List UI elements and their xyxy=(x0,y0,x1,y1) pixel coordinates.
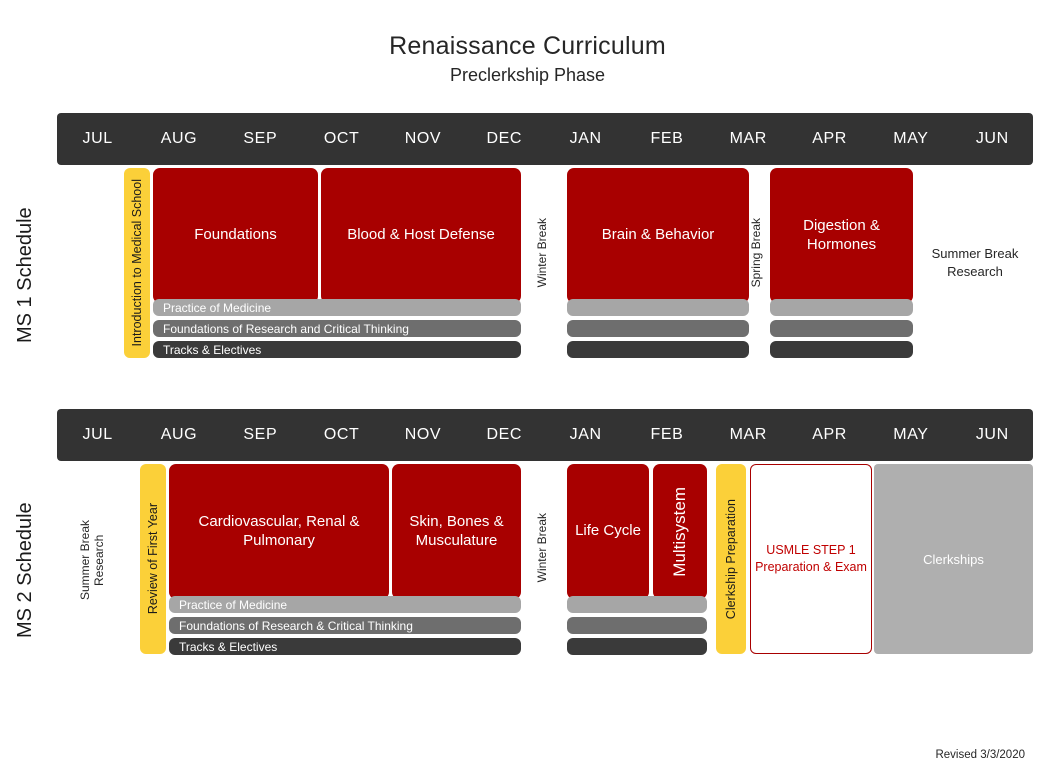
ms1-course-foundations[interactable]: Foundations xyxy=(153,168,318,303)
month-cell-mar-2: MAR xyxy=(708,426,789,444)
month-cell-feb-2: FEB xyxy=(626,426,707,444)
ms2-clerkships-label: Clerkships xyxy=(923,552,984,567)
ms1-course-digestion-hormones-label: Digestion & Hormones xyxy=(776,217,907,255)
month-cell-oct-2: OCT xyxy=(301,426,382,444)
usmle-line2: Preparation & Exam xyxy=(755,560,867,574)
ms1-strip-practice-of-medicine-3[interactable] xyxy=(770,299,913,316)
ms2-review-label: Review of First Year xyxy=(146,503,160,614)
month-cell-jun-2: JUN xyxy=(952,426,1033,444)
ms1-strip-tracks-electives-2[interactable] xyxy=(567,341,749,358)
ms2-month-bar: JUL AUG SEP OCT NOV DEC JAN FEB MAR APR … xyxy=(57,409,1033,461)
ms2-strip-practice-of-medicine-2[interactable] xyxy=(567,596,707,613)
ms1-course-blood-host-defense[interactable]: Blood & Host Defense xyxy=(321,168,521,303)
revision-footer: Revised 3/3/2020 xyxy=(935,749,1025,761)
month-cell-aug-2: AUG xyxy=(138,426,219,444)
ms2-strip-practice-of-medicine[interactable]: Practice of Medicine xyxy=(169,596,521,613)
ms2-course-cardiovascular-renal-pulmonary[interactable]: Cardiovascular, Renal & Pulmonary xyxy=(169,464,389,599)
month-cell-jan-2: JAN xyxy=(545,426,626,444)
ms2-winter-break-label: Winter Break xyxy=(531,500,553,595)
ms1-strip-foundations-research-3[interactable] xyxy=(770,320,913,337)
month-cell-feb: FEB xyxy=(626,130,707,148)
ms1-intro-to-medical-school-block[interactable]: Introduction to Medical School xyxy=(124,168,150,358)
month-cell-jul: JUL xyxy=(57,130,138,148)
title-subtitle: Preclerkship Phase xyxy=(0,65,1055,86)
month-cell-nov-2: NOV xyxy=(382,426,463,444)
month-cell-jun: JUN xyxy=(952,130,1033,148)
month-cell-apr-2: APR xyxy=(789,426,870,444)
ms2-clerkship-prep-label: Clerkship Preparation xyxy=(724,499,738,619)
month-cell-nov: NOV xyxy=(382,130,463,148)
ms2-strip-foundations-research[interactable]: Foundations of Research & Critical Think… xyxy=(169,617,521,634)
ms1-spring-break-label: Spring Break xyxy=(745,205,767,300)
ms2-clerkships-block[interactable]: Clerkships xyxy=(874,464,1033,654)
ms2-course-multisystem[interactable]: Multisystem xyxy=(653,464,707,599)
month-cell-sep-2: SEP xyxy=(220,426,301,444)
ms2-usmle-step1-block[interactable]: USMLE STEP 1Preparation & Exam xyxy=(750,464,872,654)
ms1-month-bar: JUL AUG SEP OCT NOV DEC JAN FEB MAR APR … xyxy=(57,113,1033,165)
ms1-summer-break-research-label: Summer BreakResearch xyxy=(915,240,1035,286)
ms2-course-multisystem-label: Multisystem xyxy=(669,487,690,577)
ms2-course-life-cycle-label: Life Cycle xyxy=(575,522,641,541)
ms1-strip-tracks-electives-3[interactable] xyxy=(770,341,913,358)
ms1-row-label: MS 1 Schedule xyxy=(14,185,48,365)
ms1-strip-practice-of-medicine-2[interactable] xyxy=(567,299,749,316)
ms1-intro-label: Introduction to Medical School xyxy=(130,179,144,346)
ms1-course-blood-host-defense-label: Blood & Host Defense xyxy=(347,226,495,245)
month-cell-jan: JAN xyxy=(545,130,626,148)
ms1-course-brain-behavior[interactable]: Brain & Behavior xyxy=(567,168,749,303)
ms1-strip-foundations-research-2[interactable] xyxy=(567,320,749,337)
ms2-strip-tracks-electives[interactable]: Tracks & Electives xyxy=(169,638,521,655)
ms2-course-skin-bones-label: Skin, Bones & Musculature xyxy=(398,513,515,551)
page-title: Renaissance Curriculum Preclerkship Phas… xyxy=(0,32,1055,86)
curriculum-diagram: Renaissance Curriculum Preclerkship Phas… xyxy=(0,0,1055,773)
month-cell-oct: OCT xyxy=(301,130,382,148)
month-cell-dec-2: DEC xyxy=(464,426,545,444)
ms1-winter-break-label: Winter Break xyxy=(531,205,553,300)
ms1-strip-practice-of-medicine[interactable]: Practice of Medicine xyxy=(153,299,521,316)
ms1-strip-foundations-research[interactable]: Foundations of Research and Critical Thi… xyxy=(153,320,521,337)
month-cell-apr: APR xyxy=(789,130,870,148)
ms2-course-life-cycle[interactable]: Life Cycle xyxy=(567,464,649,599)
month-cell-sep: SEP xyxy=(220,130,301,148)
month-cell-aug: AUG xyxy=(138,130,219,148)
month-cell-may-2: MAY xyxy=(870,426,951,444)
ms2-course-cardiovascular-label: Cardiovascular, Renal & Pulmonary xyxy=(175,513,383,551)
ms2-course-skin-bones-musculature[interactable]: Skin, Bones & Musculature xyxy=(392,464,521,599)
ms1-strip-tracks-electives[interactable]: Tracks & Electives xyxy=(153,341,521,358)
ms1-course-digestion-hormones[interactable]: Digestion & Hormones xyxy=(770,168,913,303)
ms2-strip-tracks-electives-2[interactable] xyxy=(567,638,707,655)
ms2-summer-break-research-label: Summer BreakResearch xyxy=(74,500,110,620)
ms2-clerkship-preparation-block[interactable]: Clerkship Preparation xyxy=(716,464,746,654)
ms2-review-of-first-year-block[interactable]: Review of First Year xyxy=(140,464,166,654)
month-cell-jul-2: JUL xyxy=(57,426,138,444)
title-main: Renaissance Curriculum xyxy=(0,32,1055,61)
ms2-strip-foundations-research-2[interactable] xyxy=(567,617,707,634)
month-cell-mar: MAR xyxy=(708,130,789,148)
month-cell-dec: DEC xyxy=(464,130,545,148)
month-cell-may: MAY xyxy=(870,130,951,148)
ms2-row-label: MS 2 Schedule xyxy=(14,480,48,660)
usmle-line1: USMLE STEP 1 xyxy=(766,543,855,557)
ms1-course-brain-behavior-label: Brain & Behavior xyxy=(602,226,715,245)
ms1-course-foundations-label: Foundations xyxy=(194,226,277,245)
